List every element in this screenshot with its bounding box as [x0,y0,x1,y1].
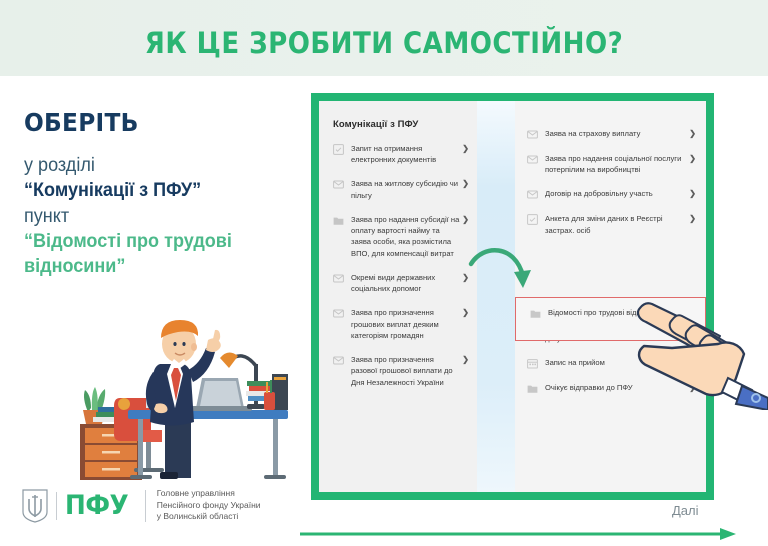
menu-item-label: Заява про призначення разової грошової в… [351,354,461,388]
menu-item-label: Заява на страхову виплату [545,128,640,139]
menu-item-pending-submission[interactable]: Очікує відправки до ПФУ ❯ [515,382,706,394]
envelope-icon [333,355,344,366]
chevron-right-icon[interactable]: ❯ [462,144,469,153]
envelope-icon [333,308,344,319]
menu-item-insurance-payment[interactable]: Заява на страхову виплату ❯ [515,128,706,140]
organization-line-2: Пенсійного фонду України [157,500,261,510]
organization-line-3: у Волинській області [157,511,239,521]
footer-logo: ПФУ Головне управління Пенсійного фонду … [22,488,261,523]
menu-item-rent-subsidy[interactable]: Заява про надання субсидії на оплату вар… [319,214,477,259]
panel-title: Комунікації з ПФУ [319,101,477,130]
menu-item-housing-subsidy[interactable]: Заява на житлову субсидію чи пільгу ❯ [319,178,477,200]
organization-line-1: Головне управління [157,488,235,498]
menu-item-voluntary-participation-contract[interactable]: Договір на добровільну участь ❯ [515,188,706,200]
arrow-right-icon [300,527,740,541]
instruction-line-2: “Комунікації з ПФУ” [24,178,288,203]
organization-name: Головне управління Пенсійного фонду Укра… [157,488,261,523]
ukraine-trident-icon [22,489,48,523]
chevron-right-icon[interactable]: ❯ [462,273,469,282]
chevron-right-icon[interactable]: ❯ [689,189,696,198]
page-title: ЯК ЦЕ ЗРОБИТИ САМОСТІЙНО? [38,26,729,60]
instruction-heading: ОБЕРІТЬ [24,108,283,137]
chevron-right-icon[interactable]: ❯ [462,308,469,317]
calendar-icon [527,358,538,369]
envelope-icon [527,129,538,140]
menu-item-registry-data-change-form[interactable]: Анкета для зміни даних в Реєстрі застрах… [515,213,706,235]
envelope-icon [527,154,538,165]
chevron-right-icon[interactable]: ❯ [689,214,696,223]
pfu-wordmark: ПФУ [65,490,128,521]
menu-item-label: Заява про надання субсидії на оплату вар… [351,214,461,259]
highlighted-menu-item-employment-records[interactable]: Відомості про трудові відносини [515,297,706,341]
chevron-right-icon[interactable]: ❯ [462,355,469,364]
next-step-label: Далі [672,503,699,518]
instruction-line-3: пункт [24,204,288,229]
app-screenshot-frame: Комунікації з ПФУ Запит на отримання еле… [311,93,714,500]
chevron-right-icon[interactable]: ❯ [689,129,696,138]
menu-item-label: Договір на добровільну участь [545,188,653,199]
chevron-right-icon[interactable]: ❯ [462,179,469,188]
checkbox-document-icon [527,214,538,225]
instruction-line-4: “Відомості про трудові [24,229,288,254]
chevron-right-icon[interactable]: ❯ [689,358,696,367]
chevron-right-icon[interactable]: ❯ [689,383,696,392]
folder-icon [333,215,344,226]
menu-item-electronic-documents-request[interactable]: Запит на отримання електронних документі… [319,143,477,165]
businessman-at-desk-illustration [42,300,290,490]
app-screenshot-content: Комунікації з ПФУ Запит на отримання еле… [319,101,706,492]
instruction-line-5: відносини” [24,254,288,279]
menu-item-state-social-aid[interactable]: Окремі види державних соціальних допомог… [319,272,477,294]
menu-item-label: Відомості про трудові відносини [548,307,661,318]
menu-item-label: Заява про призначення грошових виплат де… [351,307,461,341]
logo-divider [56,492,57,520]
menu-item-social-service-injured[interactable]: Заява про надання соціальної послуги пот… [515,153,706,175]
menu-item-label: Очікує відправки до ПФУ [545,382,633,393]
communications-left-column: Комунікації з ПФУ Запит на отримання еле… [319,101,477,492]
menu-item-employment-records[interactable]: Відомості про трудові відносини [516,307,705,319]
envelope-icon [333,179,344,190]
menu-item-label: Запис на прийом [545,357,605,368]
chevron-right-icon[interactable]: ❯ [462,215,469,224]
menu-item-label: Заява на житлову субсидію чи пільгу [351,178,461,200]
column-divider-band [477,101,515,492]
menu-item-label: Заява про надання соціальної послуги пот… [545,153,690,175]
logo-divider-2 [145,490,146,522]
highlight-spacer [515,236,706,284]
menu-item-label: Запит на отримання електронних документі… [351,143,461,165]
envelope-icon [333,273,344,284]
menu-item-label: Анкета для зміни даних в Реєстрі застрах… [545,213,690,235]
instruction-block: ОБЕРІТЬ у розділі “Комунікації з ПФУ” пу… [24,108,302,279]
menu-item-cash-payments-categories[interactable]: Заява про призначення грошових виплат де… [319,307,477,341]
checkbox-document-icon [333,144,344,155]
instruction-line-1: у розділі [24,153,288,178]
menu-item-appointment-booking[interactable]: Запис на прийом ❯ [515,357,706,369]
folder-icon [527,383,538,394]
chevron-right-icon[interactable]: ❯ [689,154,696,163]
envelope-icon [527,189,538,200]
menu-item-label: Окремі види державних соціальних допомог [351,272,461,294]
folder-icon [530,308,541,319]
menu-item-independence-day-payment[interactable]: Заява про призначення разової грошової в… [319,354,477,388]
